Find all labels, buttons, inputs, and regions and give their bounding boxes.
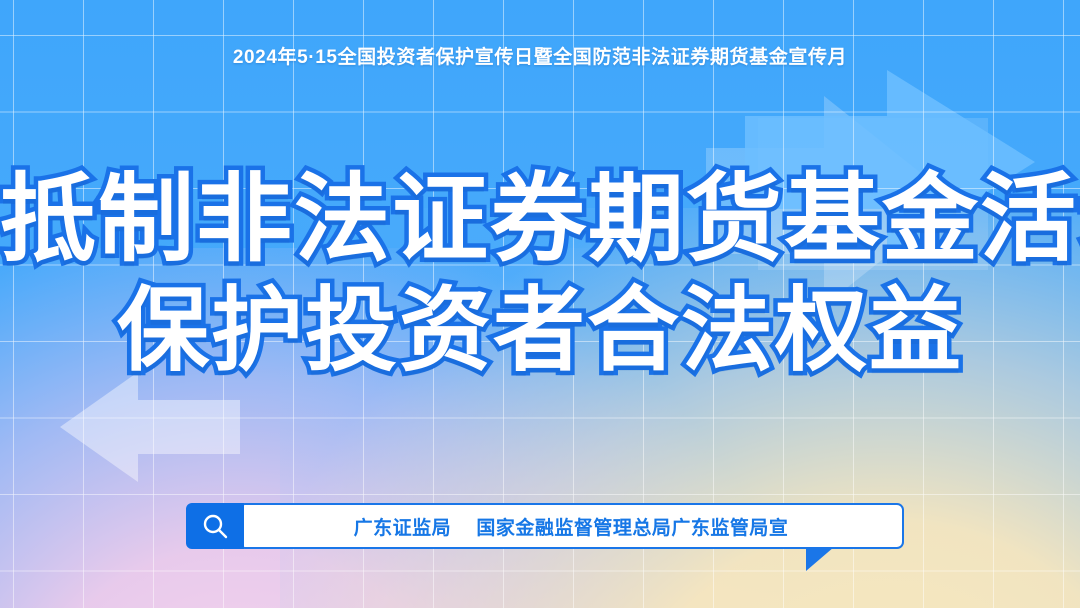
footer-organizations-label: 广东证监局 国家金融监督管理总局广东监管局宣 <box>354 513 789 540</box>
page-title-line-1: 抵制非法证券期货基金活动 <box>0 172 1080 268</box>
poster-canvas: 2024年5·15全国投资者保护宣传日暨全国防范非法证券期货基金宣传月 抵制非法… <box>0 0 1080 608</box>
search-icon <box>186 503 244 549</box>
footer-text-box: 广东证监局 国家金融监督管理总局广东监管局宣 <box>238 503 904 549</box>
footer-banner: 广东证监局 国家金融监督管理总局广东监管局宣 <box>186 503 904 549</box>
arrow-left-light-icon <box>60 372 240 482</box>
speech-bubble-tail <box>806 547 834 571</box>
page-subtitle: 2024年5·15全国投资者保护宣传日暨全国防范非法证券期货基金宣传月 <box>0 42 1080 69</box>
page-title-line-2: 保护投资者合法权益 <box>0 285 1080 377</box>
